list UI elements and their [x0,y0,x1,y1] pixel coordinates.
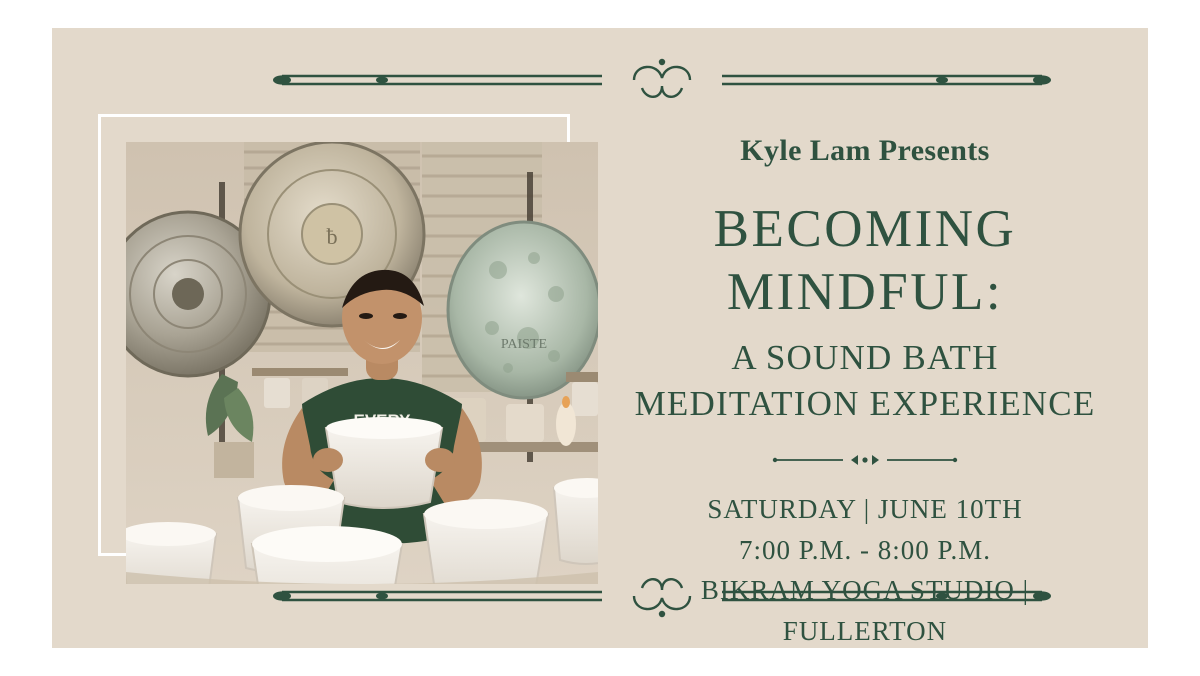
event-date: Saturday | June 10th [630,489,1100,530]
svg-text:ƀ: ƀ [326,224,338,249]
ornament-mini-rule [765,453,965,467]
photo-block: ƀ PAISTE [98,114,598,584]
presenter-line: Kyle Lam Presents [630,134,1100,168]
poster-canvas: ƀ PAISTE [52,28,1148,648]
event-venue: Bikram Yoga Studio | Fullerton [630,570,1100,651]
event-text-column: Kyle Lam Presents Becoming Mindful: A So… [630,88,1100,588]
svg-text:PAISTE: PAISTE [501,337,547,352]
event-details: Saturday | June 10th 7:00 P.M. - 8:00 P.… [630,489,1100,651]
event-subtitle-line-1: A Sound Bath [630,335,1100,381]
event-title: Becoming Mindful: [630,198,1100,323]
poster-root: ƀ PAISTE [0,0,1200,676]
event-subtitle-line-2: Meditation Experience [630,381,1100,427]
event-title-line-2: Mindful: [630,261,1100,324]
event-title-line-1: Becoming [630,198,1100,261]
event-photo: ƀ PAISTE [126,142,598,584]
event-subtitle: A Sound Bath Meditation Experience [630,335,1100,427]
event-time: 7:00 P.M. - 8:00 P.M. [630,530,1100,571]
